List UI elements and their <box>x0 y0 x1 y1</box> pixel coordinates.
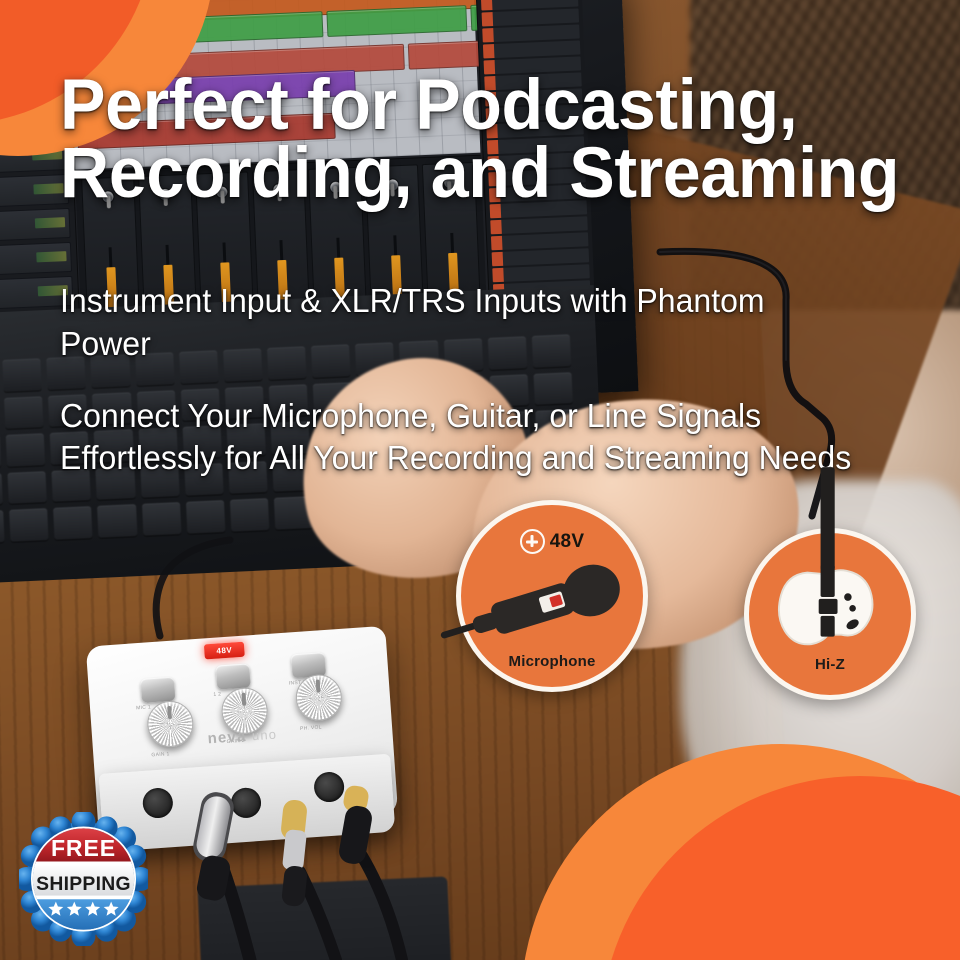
keyboard-key <box>230 499 270 532</box>
keyboard-key <box>2 358 42 391</box>
keyboard-key <box>0 511 5 544</box>
keyboard-key <box>97 505 137 538</box>
device-switch-label-1: MIC 1 <box>136 704 151 711</box>
keyboard-key <box>0 473 3 506</box>
keyboard-key <box>186 501 226 534</box>
badge-hiz: Hi-Z <box>744 528 916 700</box>
device-jack-line[interactable] <box>230 787 262 819</box>
keyboard-key <box>8 471 48 504</box>
phantom-power-led: 48V <box>204 642 245 660</box>
marketing-banner: 48V MIC 1 1 2 INST 2 GAIN 1 GAIN 2 PH. V… <box>0 0 960 960</box>
keyboard-key <box>4 396 44 429</box>
device-switch-2[interactable] <box>215 663 251 689</box>
device-knob-volume[interactable] <box>294 673 343 722</box>
device-switch-label-2: 1 2 <box>213 691 221 698</box>
badge-microphone-label: Microphone <box>461 653 643 670</box>
device-switch-1[interactable] <box>140 677 176 703</box>
shipping-free-text: FREE <box>51 835 116 861</box>
device-knob-label-1: GAIN 1 <box>151 751 170 758</box>
badge-microphone: 48V Microphone <box>456 500 648 692</box>
copy-block: Perfect for Podcasting, Recording, and S… <box>60 72 960 479</box>
keyboard-key <box>9 509 49 542</box>
keyboard-key <box>6 433 46 466</box>
device-brand-name: neva <box>207 728 247 748</box>
laptop-trackpad <box>197 876 452 960</box>
device-jack-inst[interactable] <box>313 771 345 803</box>
keyboard-key <box>142 503 182 536</box>
keyboard-key <box>0 435 1 468</box>
shipping-shipping-text: SHIPPING <box>36 873 131 895</box>
free-shipping-badge: FREE SHIPPING <box>19 812 148 946</box>
badge-hiz-label: Hi-Z <box>749 656 911 673</box>
device-model-name: uno <box>251 727 277 744</box>
keyboard-key <box>53 507 93 540</box>
subheading-secondary: Connect Your Microphone, Guitar, or Line… <box>60 395 855 479</box>
audio-interface-device: 48V MIC 1 1 2 INST 2 GAIN 1 GAIN 2 PH. V… <box>86 626 399 836</box>
subheading-primary: Instrument Input & XLR/TRS Inputs with P… <box>60 280 836 364</box>
headline: Perfect for Podcasting, Recording, and S… <box>60 72 924 208</box>
